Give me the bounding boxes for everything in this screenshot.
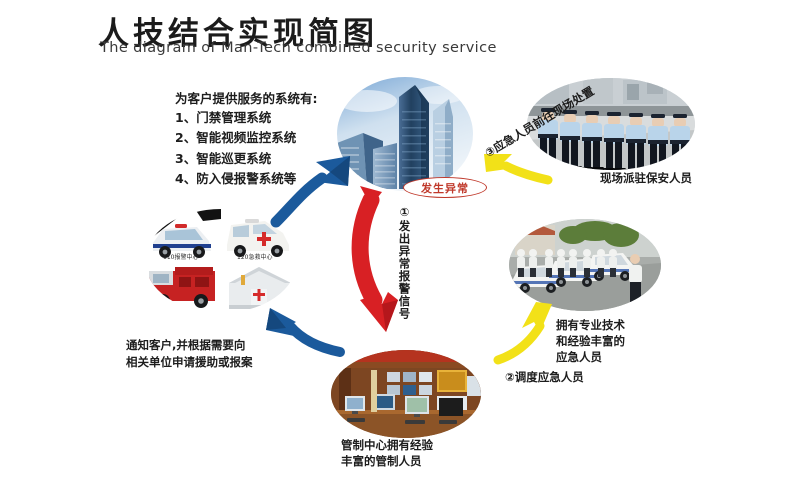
svg-text:110报警中心: 110报警中心 bbox=[163, 253, 198, 261]
caption-notify-client: 通知客户,并根据需要向 相关单位申请援助或报案 bbox=[126, 337, 253, 370]
emergency-vehicles-collage-photo: 110报警中心 120急救中心 bbox=[145, 209, 297, 313]
yellow-arrow-dispatch bbox=[498, 302, 552, 360]
flow-label-step2: ②调度应急人员 bbox=[505, 369, 584, 386]
red-arrow-abnormal-signal bbox=[360, 186, 398, 332]
caption-responders: 拥有专业技术 和经验丰富的 应急人员 bbox=[556, 317, 625, 365]
diagram-canvas: 人技结合实现简图 The diagram of Man-Tech combine… bbox=[0, 0, 802, 477]
systems-list-heading: 为客户提供服务的系统有: bbox=[175, 90, 318, 108]
page-subtitle-english: The diagram of Man-Tech combined securit… bbox=[100, 40, 497, 56]
office-building-photo bbox=[337, 77, 473, 191]
security-guards-formation-photo bbox=[527, 78, 695, 170]
caption-control-center: 管制中心拥有经验 丰富的管制人员 bbox=[341, 437, 433, 469]
caption-onsite-guards: 现场派驻保安人员 bbox=[600, 170, 692, 187]
blue-arrow-notify-client bbox=[266, 308, 340, 352]
abnormal-event-badge: 发生异常 bbox=[403, 177, 487, 198]
svg-text:120急救中心: 120急救中心 bbox=[237, 253, 272, 261]
control-center-photo bbox=[331, 350, 481, 438]
flow-label-step1: ①发出异常报警信号 bbox=[398, 205, 410, 320]
patrol-cars-photo bbox=[509, 219, 661, 311]
systems-list-items: 1、门禁管理系统 2、智能视频监控系统 3、智能巡更系统 4、防入侵报警系统等 bbox=[175, 108, 296, 189]
